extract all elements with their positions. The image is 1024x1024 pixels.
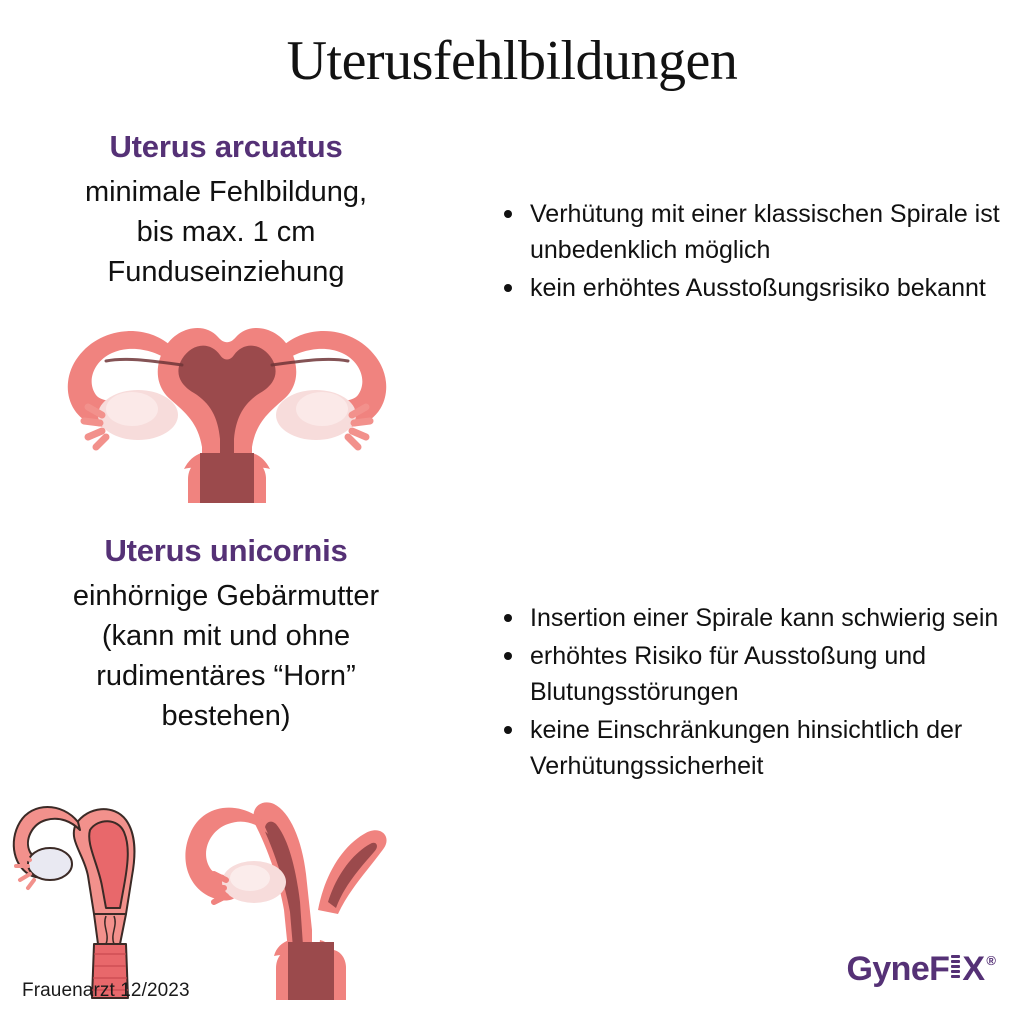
unicornis-bullet-column: Insertion einer Spirale kann schwierig s… (500, 600, 1020, 786)
gynefix-logo: GyneFX ® (847, 952, 996, 986)
unicornis-description-line: (kann mit und ohne (14, 616, 438, 656)
unicornis-description-line: einhörnige Gebärmutter (14, 576, 438, 616)
uterus-arcuatus-figure (52, 303, 402, 503)
registered-trademark-icon: ® (986, 953, 996, 968)
section-uterus-unicornis: Uterus unicornis einhörnige Gebärmutter … (0, 532, 1024, 972)
arcuatus-description-line: bis max. 1 cm (14, 212, 438, 252)
unicornis-heading: Uterus unicornis (0, 532, 452, 570)
list-item-text: keine Einschränkungen hinsichtlich der V… (530, 716, 962, 780)
uterus-unicornis-horn-icon (178, 790, 398, 1002)
list-item: erhöhtes Risiko für Ausstoßung und Blutu… (500, 638, 1020, 710)
uterus-unicornis-figure-outlined (2, 794, 188, 1004)
list-item: Verhütung mit einer klassischen Spirale … (500, 196, 1020, 268)
bullet-dot-icon (504, 284, 512, 292)
section-uterus-arcuatus: Uterus arcuatus minimale Fehlbildung, bi… (0, 128, 1024, 508)
list-item-text: Insertion einer Spirale kann schwierig s… (530, 604, 998, 632)
arcuatus-bullet-column: Verhütung mit einer klassischen Spirale … (500, 196, 1020, 308)
list-item: keine Einschränkungen hinsichtlich der V… (500, 712, 1020, 784)
bullet-dot-icon (504, 614, 512, 622)
list-item: Insertion einer Spirale kann schwierig s… (500, 600, 1020, 636)
brand-name-part3: X (962, 952, 984, 986)
uterus-unicornis-outlined-icon (2, 794, 188, 1004)
unicornis-description: einhörnige Gebärmutter (kann mit und ohn… (0, 576, 452, 736)
brand-name-part2: F (929, 952, 949, 986)
bullet-dot-icon (504, 210, 512, 218)
unicornis-text-column: Uterus unicornis einhörnige Gebärmutter … (0, 532, 452, 736)
unicornis-description-line: rudimentäres “Horn” (14, 656, 438, 696)
unicornis-description-line: bestehen) (14, 696, 438, 736)
list-item-text: kein erhöhtes Ausstoßungsrisiko bekannt (530, 274, 986, 302)
iud-bead-i-icon (951, 955, 960, 981)
brand-name-part1: Gyne (847, 952, 930, 986)
unicornis-bullet-list: Insertion einer Spirale kann schwierig s… (500, 600, 1020, 784)
uterus-arcuatus-icon (52, 303, 402, 503)
bullet-dot-icon (504, 652, 512, 660)
arcuatus-description-line: Funduseinziehung (14, 252, 438, 292)
arcuatus-description-line: minimale Fehlbildung, (14, 172, 438, 212)
list-item-text: Verhütung mit einer klassischen Spirale … (530, 200, 1000, 264)
arcuatus-text-column: Uterus arcuatus minimale Fehlbildung, bi… (0, 128, 452, 292)
page-title: Uterusfehlbildungen (0, 28, 1024, 94)
brand-wordmark: GyneFX (847, 952, 985, 986)
uterus-unicornis-figure-with-horn (178, 790, 398, 1002)
source-note: Frauenarzt 12/2023 (22, 980, 190, 1002)
list-item-text: erhöhtes Risiko für Ausstoßung und Blutu… (530, 642, 926, 706)
arcuatus-heading: Uterus arcuatus (0, 128, 452, 166)
list-item: kein erhöhtes Ausstoßungsrisiko bekannt (500, 270, 1020, 306)
arcuatus-description: minimale Fehlbildung, bis max. 1 cm Fund… (0, 172, 452, 292)
bullet-dot-icon (504, 726, 512, 734)
arcuatus-bullet-list: Verhütung mit einer klassischen Spirale … (500, 196, 1020, 306)
